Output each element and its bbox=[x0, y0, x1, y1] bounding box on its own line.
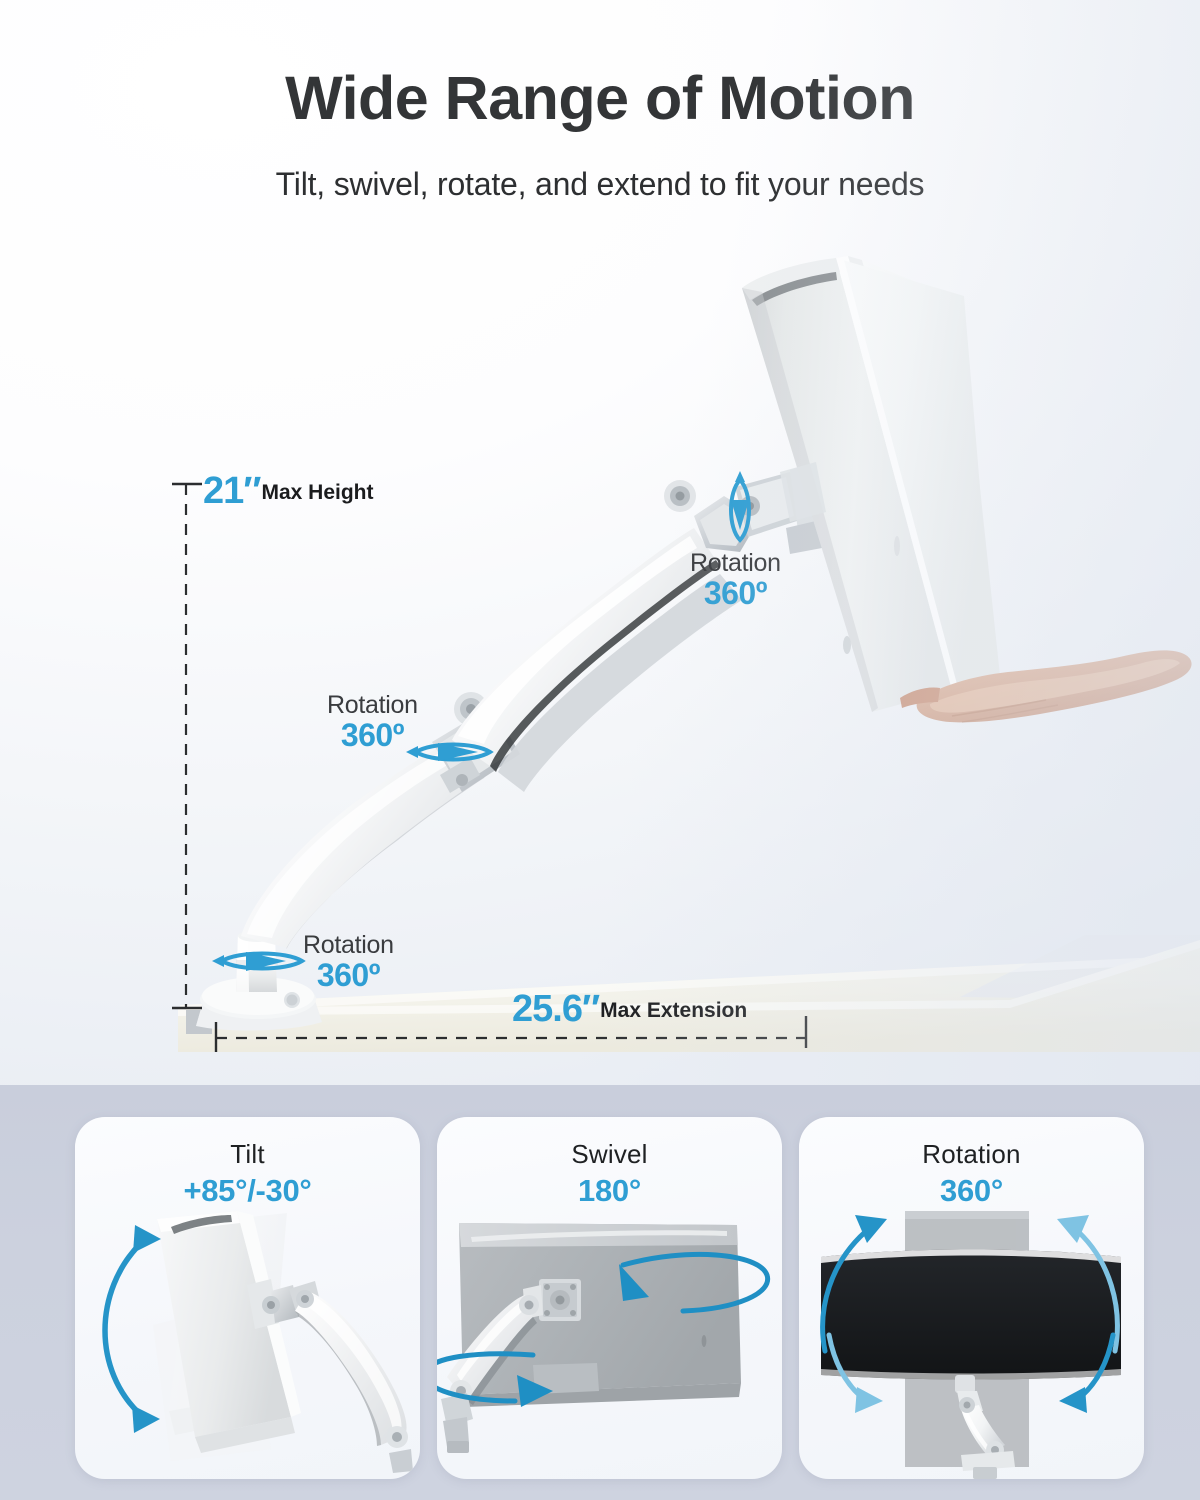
max-extension-annotation: 25.6″Max Extension bbox=[512, 988, 747, 1031]
rotation-caption: Rotation bbox=[303, 932, 394, 958]
max-extension-label: Max Extension bbox=[600, 999, 747, 1022]
rotation-illustration bbox=[799, 1205, 1144, 1479]
rotation-arrowhead-right-bottom bbox=[1059, 1387, 1087, 1413]
tilt-illustration bbox=[75, 1205, 420, 1479]
rotation-callout-base-joint: Rotation 360º bbox=[303, 932, 394, 993]
feature-title-swivel: Swivel bbox=[437, 1139, 782, 1170]
feature-card-tilt: Tilt +85°/-30° bbox=[75, 1117, 420, 1479]
rotation-arrow-base bbox=[212, 952, 302, 971]
max-height-value: 21″ bbox=[203, 470, 260, 512]
rotation-value: 360º bbox=[690, 576, 781, 611]
max-extension-value: 25.6″ bbox=[512, 988, 599, 1030]
rotation-arrowhead-left-bottom bbox=[855, 1387, 883, 1413]
max-height-label: Max Height bbox=[261, 481, 373, 504]
rotation-monitor-landscape bbox=[821, 1250, 1121, 1380]
rotation-arrow-monitor bbox=[731, 471, 749, 540]
rotation-callout-monitor-joint: Rotation 360º bbox=[690, 550, 781, 611]
feature-title-tilt: Tilt bbox=[75, 1139, 420, 1170]
feature-cards-section: Tilt +85°/-30° bbox=[0, 1085, 1200, 1500]
feature-value-tilt: +85°/-30° bbox=[75, 1173, 420, 1209]
feature-title-rotation: Rotation bbox=[799, 1139, 1144, 1170]
page-title: Wide Range of Motion bbox=[0, 66, 1200, 130]
feature-card-rotation: Rotation 360° bbox=[799, 1117, 1144, 1479]
feature-card-swivel: Swivel 180° bbox=[437, 1117, 782, 1479]
rotation-value: 360º bbox=[327, 718, 418, 753]
hero-section: Wide Range of Motion Tilt, swivel, rotat… bbox=[0, 0, 1200, 1085]
rotation-callout-elbow-joint: Rotation 360º bbox=[327, 692, 418, 753]
swivel-illustration bbox=[437, 1205, 782, 1479]
rotation-arrow-elbow bbox=[406, 743, 490, 761]
rotation-caption: Rotation bbox=[327, 692, 418, 718]
monitor-arm-illustration bbox=[0, 0, 1200, 1085]
tilt-arm bbox=[289, 1281, 413, 1473]
feature-value-swivel: 180° bbox=[437, 1173, 782, 1209]
feature-value-rotation: 360° bbox=[799, 1173, 1144, 1209]
max-height-annotation: 21″Max Height bbox=[203, 470, 374, 513]
rotation-value: 360º bbox=[303, 958, 394, 993]
tilt-arrow bbox=[105, 1243, 141, 1415]
rotation-caption: Rotation bbox=[690, 550, 781, 576]
page-subtitle: Tilt, swivel, rotate, and extend to fit … bbox=[0, 166, 1200, 203]
